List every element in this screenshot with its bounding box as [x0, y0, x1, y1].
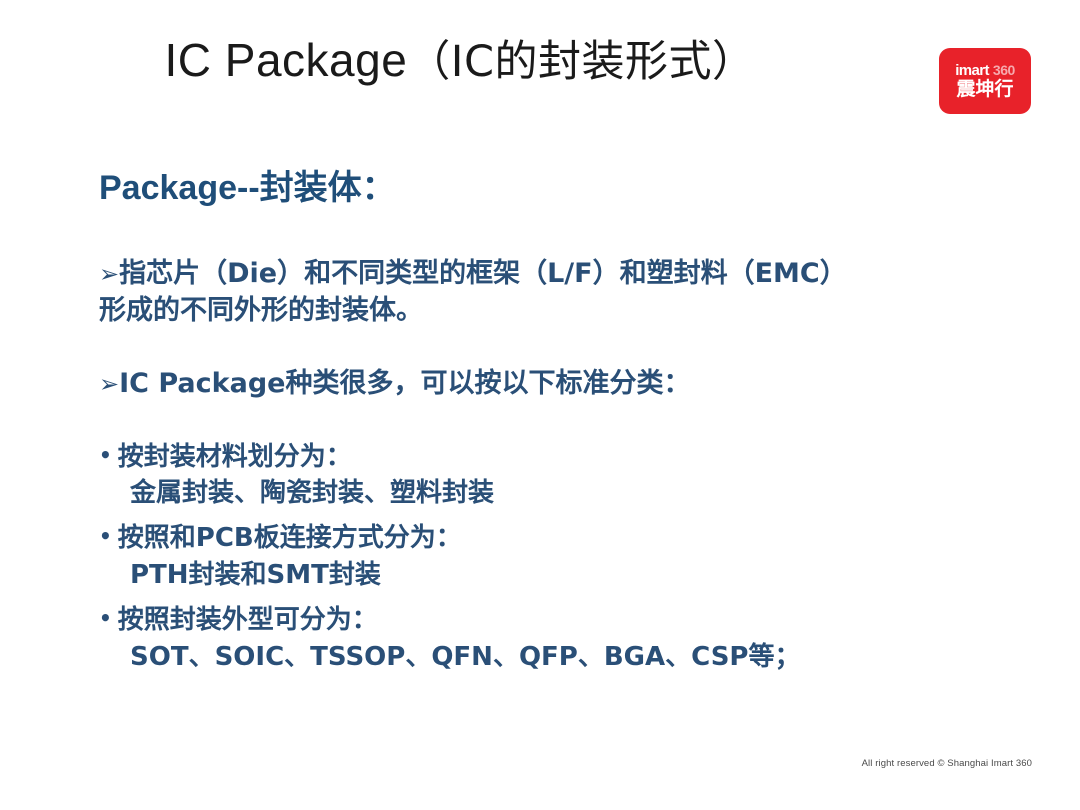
list-item-sub: 金属封装、陶瓷封装、塑料封装 — [99, 475, 1019, 512]
list-item-main-text: 按照和PCB板连接方式分为： — [118, 523, 462, 553]
paragraph-text: IC Package种类很多，可以按以下标准分类： — [119, 368, 690, 399]
page-title-cjk: （IC的封装形式） — [407, 37, 755, 87]
logo-cjk-text: 震坤行 — [956, 80, 1013, 99]
paragraph-line: ➢指芯片（Die）和不同类型的框架（L/F）和塑封料（EMC） — [99, 255, 1019, 292]
dot-bullet-icon: • — [99, 606, 118, 630]
list-item: •按封装材料划分为： 金属封装、陶瓷封装、塑料封装 — [99, 439, 1019, 513]
list-item-main: •按照和PCB板连接方式分为： — [99, 520, 1019, 557]
list-item-main-text: 按照封装外型可分为： — [118, 605, 378, 635]
dot-bullet-icon: • — [99, 524, 118, 548]
section-heading-latin: Package-- — [99, 169, 260, 207]
list-item-main: •按照封装外型可分为： — [99, 602, 1019, 639]
section-heading: Package--封装体： — [99, 168, 1019, 209]
imart-360-logo: imart 360 震坤行 — [939, 48, 1031, 114]
slide-canvas: IC Package（IC的封装形式） imart 360 震坤行 Packag… — [0, 0, 1080, 810]
section-heading-cjk: 封装体： — [260, 168, 396, 208]
dot-bullet-icon: • — [99, 443, 118, 467]
paragraph-text: 形成的不同外形的封装体。 — [99, 295, 423, 326]
list-item: •按照和PCB板连接方式分为： PTH封装和SMT封装 — [99, 520, 1019, 594]
logo-wordmark-row: imart 360 — [955, 63, 1015, 78]
logo-number-text: 360 — [993, 63, 1015, 77]
paragraph-block: ➢IC Package种类很多，可以按以下标准分类： — [99, 365, 1019, 402]
list-item-main: •按封装材料划分为： — [99, 439, 1019, 476]
title-row: IC Package（IC的封装形式） — [0, 34, 1080, 124]
list-item-main-text: 按封装材料划分为： — [118, 442, 352, 472]
arrow-bullet-icon: ➢ — [99, 370, 119, 398]
paragraph-line: ➢IC Package种类很多，可以按以下标准分类： — [99, 365, 1019, 402]
page-title-latin: IC Package — [164, 34, 407, 86]
classification-list: •按封装材料划分为： 金属封装、陶瓷封装、塑料封装 •按照和PCB板连接方式分为… — [99, 439, 1019, 676]
page-title: IC Package（IC的封装形式） — [0, 34, 920, 87]
copyright-footer: All right reserved © Shanghai Imart 360 — [862, 758, 1032, 769]
list-item-sub: SOT、SOIC、TSSOP、QFN、QFP、BGA、CSP等； — [99, 639, 1019, 676]
paragraph-line: 形成的不同外形的封装体。 — [99, 292, 1019, 329]
paragraph-text: 指芯片（Die）和不同类型的框架（L/F）和塑封料（EMC） — [119, 258, 847, 289]
logo-brand-text: imart — [955, 63, 989, 78]
slide-content: Package--封装体： ➢指芯片（Die）和不同类型的框架（L/F）和塑封料… — [99, 168, 1019, 684]
paragraph-block: ➢指芯片（Die）和不同类型的框架（L/F）和塑封料（EMC） 形成的不同外形的… — [99, 255, 1019, 330]
list-item: •按照封装外型可分为： SOT、SOIC、TSSOP、QFN、QFP、BGA、C… — [99, 602, 1019, 676]
arrow-bullet-icon: ➢ — [99, 260, 119, 288]
list-item-sub: PTH封装和SMT封装 — [99, 557, 1019, 594]
